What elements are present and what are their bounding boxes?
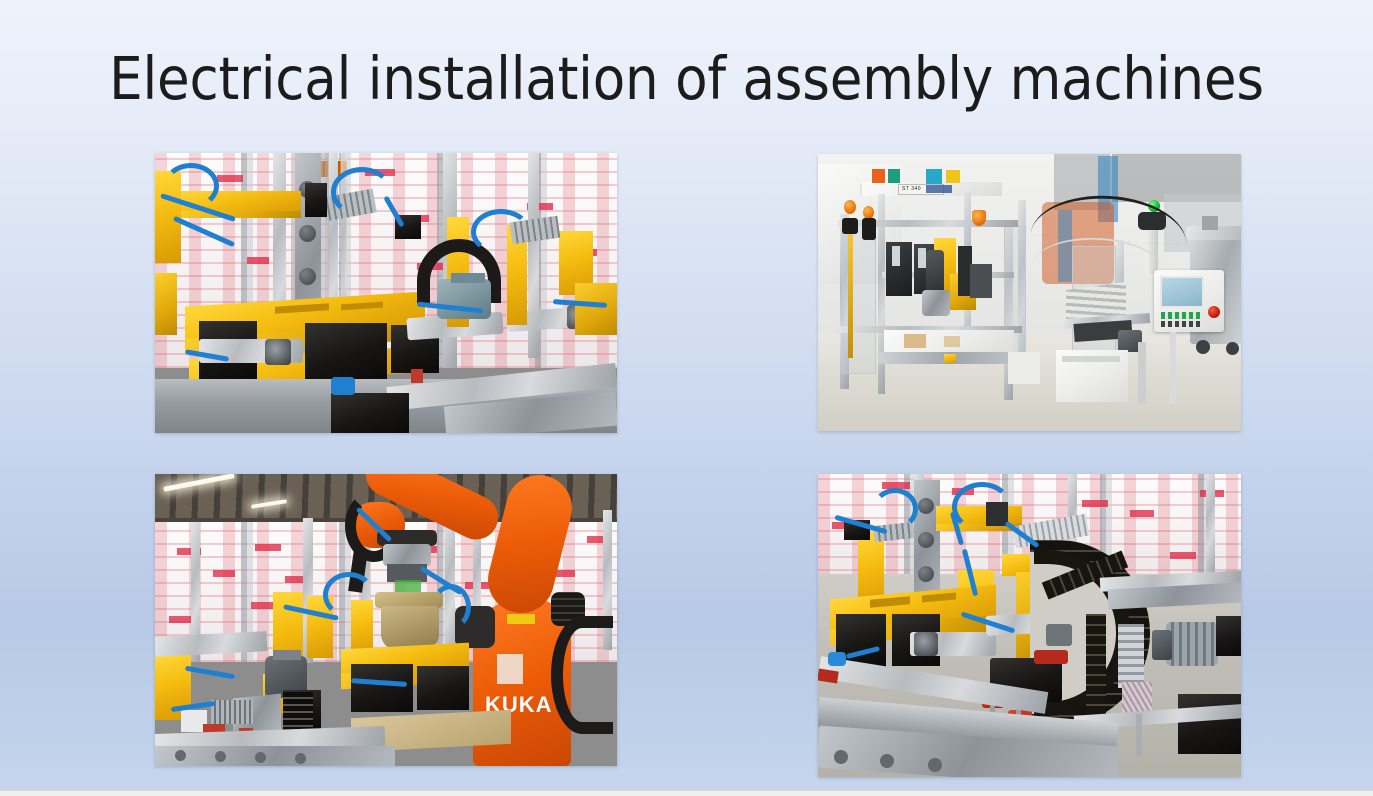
photo-bottom-left[interactable]: KUKA <box>155 474 617 766</box>
presentation-slide: Electrical installation of assembly mach… <box>0 0 1373 790</box>
emergency-stop-button[interactable] <box>1208 306 1220 318</box>
photo-top-left[interactable] <box>155 153 617 433</box>
photo-top-right[interactable]: ST 340 <box>818 154 1241 431</box>
hmi-screen <box>1160 276 1204 308</box>
page-bottom-strip <box>0 790 1373 796</box>
photo-bottom-right[interactable] <box>818 474 1241 777</box>
page-title: Electrical installation of assembly mach… <box>0 44 1373 114</box>
